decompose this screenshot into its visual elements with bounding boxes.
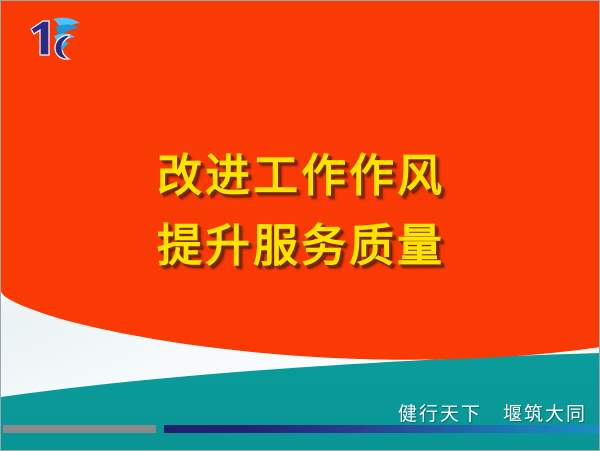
slide-title: 改进工作作风 提升服务质量 <box>1 141 600 281</box>
footer-gray-rule <box>3 425 156 433</box>
footer-tagline: 健行天下 堰筑大同 <box>398 399 587 426</box>
presentation-slide: 改进工作作风 提升服务质量 健行天下 堰筑大同 <box>0 0 600 451</box>
title-line-1: 改进工作作风 <box>1 141 600 211</box>
company-logo <box>23 13 85 63</box>
title-line-2: 提升服务质量 <box>1 211 600 281</box>
footer-blue-rule <box>164 425 600 433</box>
